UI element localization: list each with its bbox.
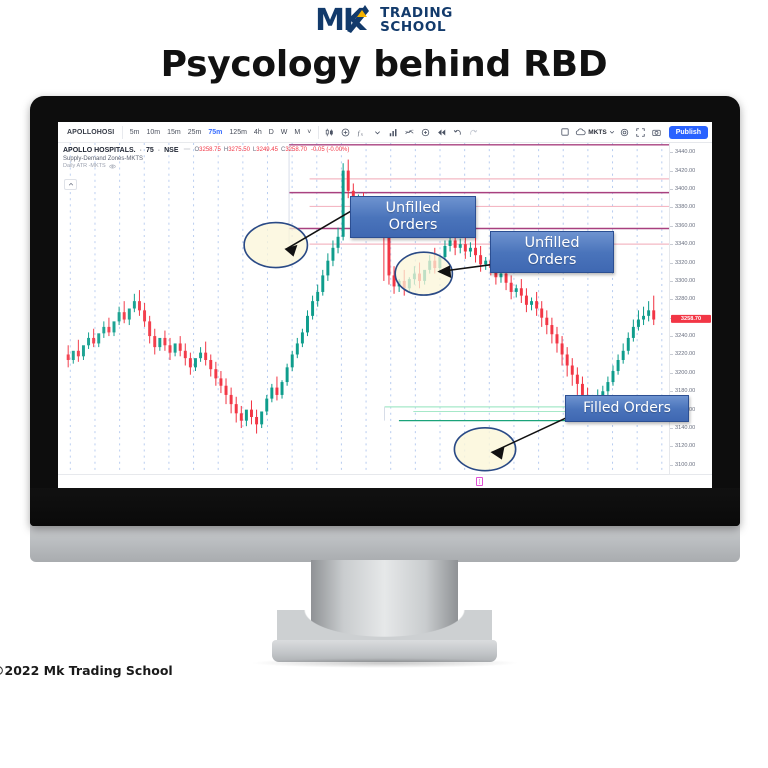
candle-body — [87, 338, 90, 345]
candle-body — [540, 309, 543, 318]
candle-body — [225, 386, 228, 395]
candle-body — [72, 351, 75, 360]
candlestick-svg — [58, 143, 669, 474]
candle-body — [393, 275, 396, 286]
candle-body — [331, 248, 334, 261]
candle-body — [403, 281, 406, 288]
candle-body — [326, 261, 329, 276]
price-tick: 3440.00 — [670, 149, 712, 155]
candle-body — [102, 327, 105, 333]
timeframe-25m[interactable]: 25m — [184, 127, 205, 138]
price-tick: 3380.00 — [670, 204, 712, 210]
candle-body — [163, 338, 166, 345]
candle-body — [622, 351, 625, 360]
candle-body — [337, 237, 340, 248]
candle-body — [520, 288, 523, 295]
candle-body — [423, 270, 426, 281]
candle-body — [240, 413, 243, 420]
candle-body — [545, 318, 548, 325]
candle-body — [571, 366, 574, 375]
toolbar-divider — [122, 126, 123, 139]
layout-square-icon[interactable] — [558, 125, 572, 139]
gear-icon[interactable] — [618, 125, 632, 139]
chart-legend: APOLLO HOSPITALS. · 75 · NSE O3258.75H32… — [63, 146, 349, 169]
candle-body — [433, 261, 436, 268]
legend-change: -0.05 (-0.00%) — [311, 147, 349, 153]
candles-icon[interactable] — [323, 125, 337, 139]
candle-body — [525, 296, 528, 305]
price-tick: 3240.00 — [670, 333, 712, 339]
candle-body — [245, 410, 248, 421]
candle-body — [153, 336, 156, 347]
monitor: APOLLOHOSI 5m10m15m25m75m125m4hDWM ˅ — [30, 96, 740, 526]
current-price-label: 3258.70 — [671, 315, 711, 323]
time-axis[interactable]: [ — [58, 474, 712, 488]
candle-body — [428, 261, 431, 270]
chevron-down-icon[interactable] — [371, 125, 385, 139]
candle-body — [199, 353, 202, 359]
candle-body — [209, 360, 212, 369]
candle-body — [347, 171, 350, 191]
price-plot[interactable] — [58, 143, 669, 474]
publish-button[interactable]: Publish — [669, 126, 708, 139]
logo-swoosh-icon — [345, 3, 371, 33]
candle-body — [296, 343, 299, 354]
candle-body — [97, 333, 100, 343]
price-tick: 3360.00 — [670, 223, 712, 229]
candle-body — [499, 274, 502, 278]
candle-body — [459, 244, 462, 248]
ohlc-C: C3258.70 — [281, 147, 307, 153]
candle-body — [652, 310, 655, 319]
legend-sep: · — [140, 147, 142, 154]
candle-body — [556, 334, 559, 343]
price-tick: 3320.00 — [670, 260, 712, 266]
legend-sep: · — [158, 147, 160, 154]
candle-body — [138, 301, 141, 310]
price-tick: 3400.00 — [670, 186, 712, 192]
logo-mark: MK — [315, 4, 377, 38]
candle-body — [189, 358, 192, 367]
annotation-filled-orders: Filled Orders — [565, 395, 689, 422]
candle-body — [474, 248, 477, 255]
price-axis[interactable]: 3440.003420.003400.003380.003360.003340.… — [669, 143, 712, 474]
candle-body — [632, 327, 635, 338]
ohlc-L: L3249.45 — [253, 147, 278, 153]
cloud-label: MKTS — [588, 129, 606, 136]
candle-body — [443, 246, 446, 257]
candle-body — [77, 351, 80, 357]
timeframe-M[interactable]: M — [291, 127, 304, 138]
poster-page: MK TRADING SCHOOL Psycology behind RBD — [0, 0, 768, 768]
candle-body — [561, 343, 564, 354]
timeframe-15m[interactable]: 15m — [164, 127, 185, 138]
timeframe-5m[interactable]: 5m — [126, 127, 143, 138]
candle-body — [647, 310, 650, 316]
candle-body — [265, 399, 268, 412]
timeframe-10m[interactable]: 10m — [143, 127, 164, 138]
annotation-unfilled-orders-2: UnfilledOrders — [490, 231, 614, 273]
candle-body — [342, 171, 345, 237]
price-tick: 3340.00 — [670, 241, 712, 247]
candle-body — [169, 345, 172, 352]
legend-ohlc: O3258.75H3275.50L3249.45C3258.70 — [195, 147, 308, 153]
timeframe-more-chevron-icon[interactable]: ˅ — [304, 127, 315, 138]
candle-body — [204, 353, 207, 360]
replay-icon[interactable] — [419, 125, 433, 139]
candle-body — [250, 410, 253, 417]
price-tick: 3100.00 — [670, 462, 712, 468]
candle-body — [617, 360, 620, 371]
candle-body — [311, 301, 314, 316]
legend-study-1: Supply-Demand Zones-MKTS — [63, 156, 349, 162]
trading-chart-app: APOLLOHOSI 5m10m15m25m75m125m4hDWM ˅ — [58, 122, 712, 488]
timeframe-75m[interactable]: 75m — [205, 127, 226, 138]
symbol-search-button[interactable]: APOLLOHOSI — [62, 127, 119, 138]
candle-body — [184, 351, 187, 358]
monitor-screen: APOLLOHOSI 5m10m15m25m75m125m4hDWM ˅ — [58, 122, 712, 488]
candle-body — [535, 301, 538, 308]
candle-body — [484, 261, 487, 265]
candle-body — [107, 327, 110, 333]
candle-body — [316, 292, 319, 301]
bar-pattern-icon[interactable] — [387, 125, 401, 139]
candle-body — [230, 395, 233, 404]
candle-body — [158, 338, 161, 347]
svg-text:x: x — [361, 131, 364, 136]
candle-body — [281, 382, 284, 395]
candle-body — [291, 354, 294, 367]
candle-body — [408, 279, 411, 288]
price-tick: 3140.00 — [670, 425, 712, 431]
candle-body — [637, 320, 640, 327]
timeframe-125m[interactable]: 125m — [226, 127, 251, 138]
time-bookmark[interactable]: [ — [476, 477, 483, 486]
candle-body — [612, 371, 615, 382]
candle-body — [123, 312, 126, 319]
candle-body — [133, 301, 136, 308]
monitor-base-band — [30, 520, 740, 562]
candle-body — [627, 338, 630, 351]
ohlc-H: H3275.50 — [224, 147, 250, 153]
footer-copyright: ©2022 Mk Trading School — [0, 663, 292, 678]
candle-body — [255, 417, 258, 424]
annotation-unfilled-orders-1: UnfilledOrders — [350, 196, 476, 238]
candle-body — [82, 345, 85, 356]
candle-body — [510, 283, 513, 292]
fullscreen-icon[interactable] — [634, 125, 648, 139]
candle-body — [275, 388, 278, 395]
logo-line-2: SCHOOL — [380, 21, 453, 35]
monitor-chin — [30, 488, 740, 526]
timeframe-4h[interactable]: 4h — [250, 127, 265, 138]
candle-body — [128, 309, 131, 320]
candle-body — [413, 274, 416, 280]
ohlc-O: O3258.75 — [195, 147, 221, 153]
candle-body — [469, 248, 472, 252]
candle-body — [566, 354, 569, 365]
candle-body — [479, 255, 482, 264]
visibility-icon[interactable] — [183, 146, 191, 154]
cloud-save-button[interactable]: MKTS — [573, 128, 616, 136]
price-tick: 3220.00 — [670, 351, 712, 357]
candle-body — [194, 358, 197, 367]
collapse-pane-button[interactable] — [64, 179, 77, 190]
candle-body — [581, 384, 584, 395]
candle-body — [174, 343, 177, 352]
candle-body — [92, 338, 95, 344]
candle-body — [179, 343, 182, 350]
candle-body — [449, 240, 452, 246]
candle-body — [530, 301, 533, 305]
rewind-icon[interactable] — [435, 125, 449, 139]
monitor-stand-neck — [311, 560, 458, 646]
eye-icon — [109, 164, 116, 169]
legend-study-2: Daily ATR -MKTS — [63, 163, 106, 169]
price-tick: 3420.00 — [670, 168, 712, 174]
price-tick: 3300.00 — [670, 278, 712, 284]
candle-body — [219, 378, 222, 385]
chart-canvas-area[interactable]: APOLLO HOSPITALS. · 75 · NSE O3258.75H32… — [58, 143, 712, 488]
candle-body — [505, 274, 508, 283]
timeframe-W[interactable]: W — [277, 127, 291, 138]
candle-body — [576, 375, 579, 384]
price-tick: 3120.00 — [670, 443, 712, 449]
fx-icon[interactable]: fx — [355, 125, 369, 139]
legend-instrument: APOLLO HOSPITALS. — [63, 147, 136, 154]
candle-body — [235, 404, 238, 413]
candle-body — [606, 382, 609, 391]
legend-exchange: NSE — [164, 147, 178, 154]
candle-body — [143, 310, 146, 321]
compare-icon[interactable] — [403, 125, 417, 139]
candle-body — [113, 321, 116, 332]
candle-body — [148, 321, 151, 336]
toolbar-divider — [318, 126, 319, 139]
page-title: Psycology behind RBD — [0, 44, 768, 85]
candle-body — [550, 325, 553, 334]
legend-study-2-row: Daily ATR -MKTS — [63, 163, 349, 169]
candle-body — [418, 274, 421, 281]
candle-body — [321, 275, 324, 292]
candle-body — [438, 257, 441, 268]
price-tick: 3180.00 — [670, 388, 712, 394]
candle-body — [260, 411, 263, 424]
candle-body — [306, 316, 309, 333]
candle-body — [286, 367, 289, 382]
redo-icon[interactable] — [467, 125, 481, 139]
legend-interval: 75 — [146, 147, 154, 154]
candle-body — [398, 281, 401, 287]
candle-body — [270, 388, 273, 399]
brand-logo: MK TRADING SCHOOL — [0, 4, 768, 38]
timeframe-group: 5m10m15m25m75m125m4hDWM — [126, 127, 303, 138]
candle-body — [642, 316, 645, 320]
candle-body — [454, 240, 457, 247]
candle-body — [67, 354, 70, 360]
candle-body — [214, 369, 217, 378]
indicator-add-icon[interactable] — [339, 125, 353, 139]
timeframe-D[interactable]: D — [265, 127, 277, 138]
price-tick: 3280.00 — [670, 296, 712, 302]
candle-body — [515, 288, 518, 292]
price-tick: 3200.00 — [670, 370, 712, 376]
candle-body — [464, 244, 467, 251]
candle-body — [301, 332, 304, 343]
chart-toolbar: APOLLOHOSI 5m10m15m25m75m125m4hDWM ˅ — [58, 122, 712, 143]
camera-icon[interactable] — [650, 125, 664, 139]
undo-icon[interactable] — [451, 125, 465, 139]
candle-body — [118, 312, 121, 321]
